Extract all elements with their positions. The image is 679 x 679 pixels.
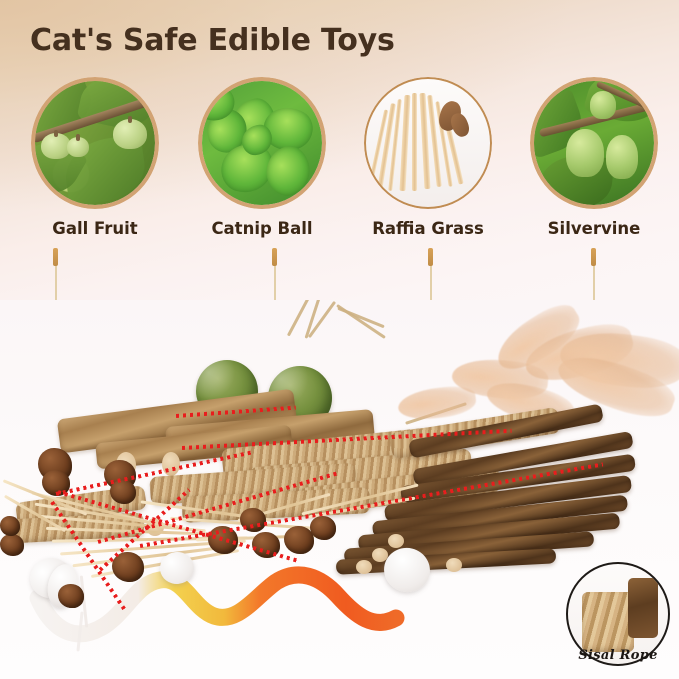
raffia-strands-photo [366, 79, 490, 207]
gall-fruit-artwork [35, 81, 155, 205]
silvervine-fruit-photo [534, 81, 654, 205]
stick-tip [628, 578, 658, 638]
leader-marker-gall-fruit [53, 248, 58, 266]
gall-fruit [0, 516, 20, 536]
feature-label-silvervine: Silvervine [519, 219, 669, 238]
feature-thumbnail-gall-fruit [31, 77, 159, 209]
raffia-artwork [366, 79, 490, 207]
sisal-rope-label: Sisal Rope [566, 648, 670, 663]
feature-label-raffia-grass: Raffia Grass [353, 219, 503, 238]
feature-thumbnail-raffia-grass [364, 77, 492, 209]
feature-thumbnail-catnip-ball [198, 77, 326, 209]
catnip-leaf-photo [202, 81, 322, 205]
page-title: Cat's Safe Edible Toys [30, 23, 395, 58]
gall-fruit [310, 516, 336, 540]
feature-label-gall-fruit: Gall Fruit [20, 219, 170, 238]
feature-label-catnip-ball: Catnip Ball [187, 219, 337, 238]
gall-fruit-photo [35, 81, 155, 205]
gall-fruit [58, 584, 84, 608]
silvervine-artwork [534, 81, 654, 205]
leader-marker-raffia-grass [428, 248, 433, 266]
catnip-artwork [202, 81, 322, 205]
feature-thumbnail-silvervine [530, 77, 658, 209]
infographic-canvas: Cat's Safe Edible Toys [0, 0, 679, 679]
leader-marker-silvervine [591, 248, 596, 266]
leader-marker-catnip-ball [272, 248, 277, 266]
stick-cut-end [446, 558, 462, 572]
sisal-rope-closeup [582, 592, 634, 652]
